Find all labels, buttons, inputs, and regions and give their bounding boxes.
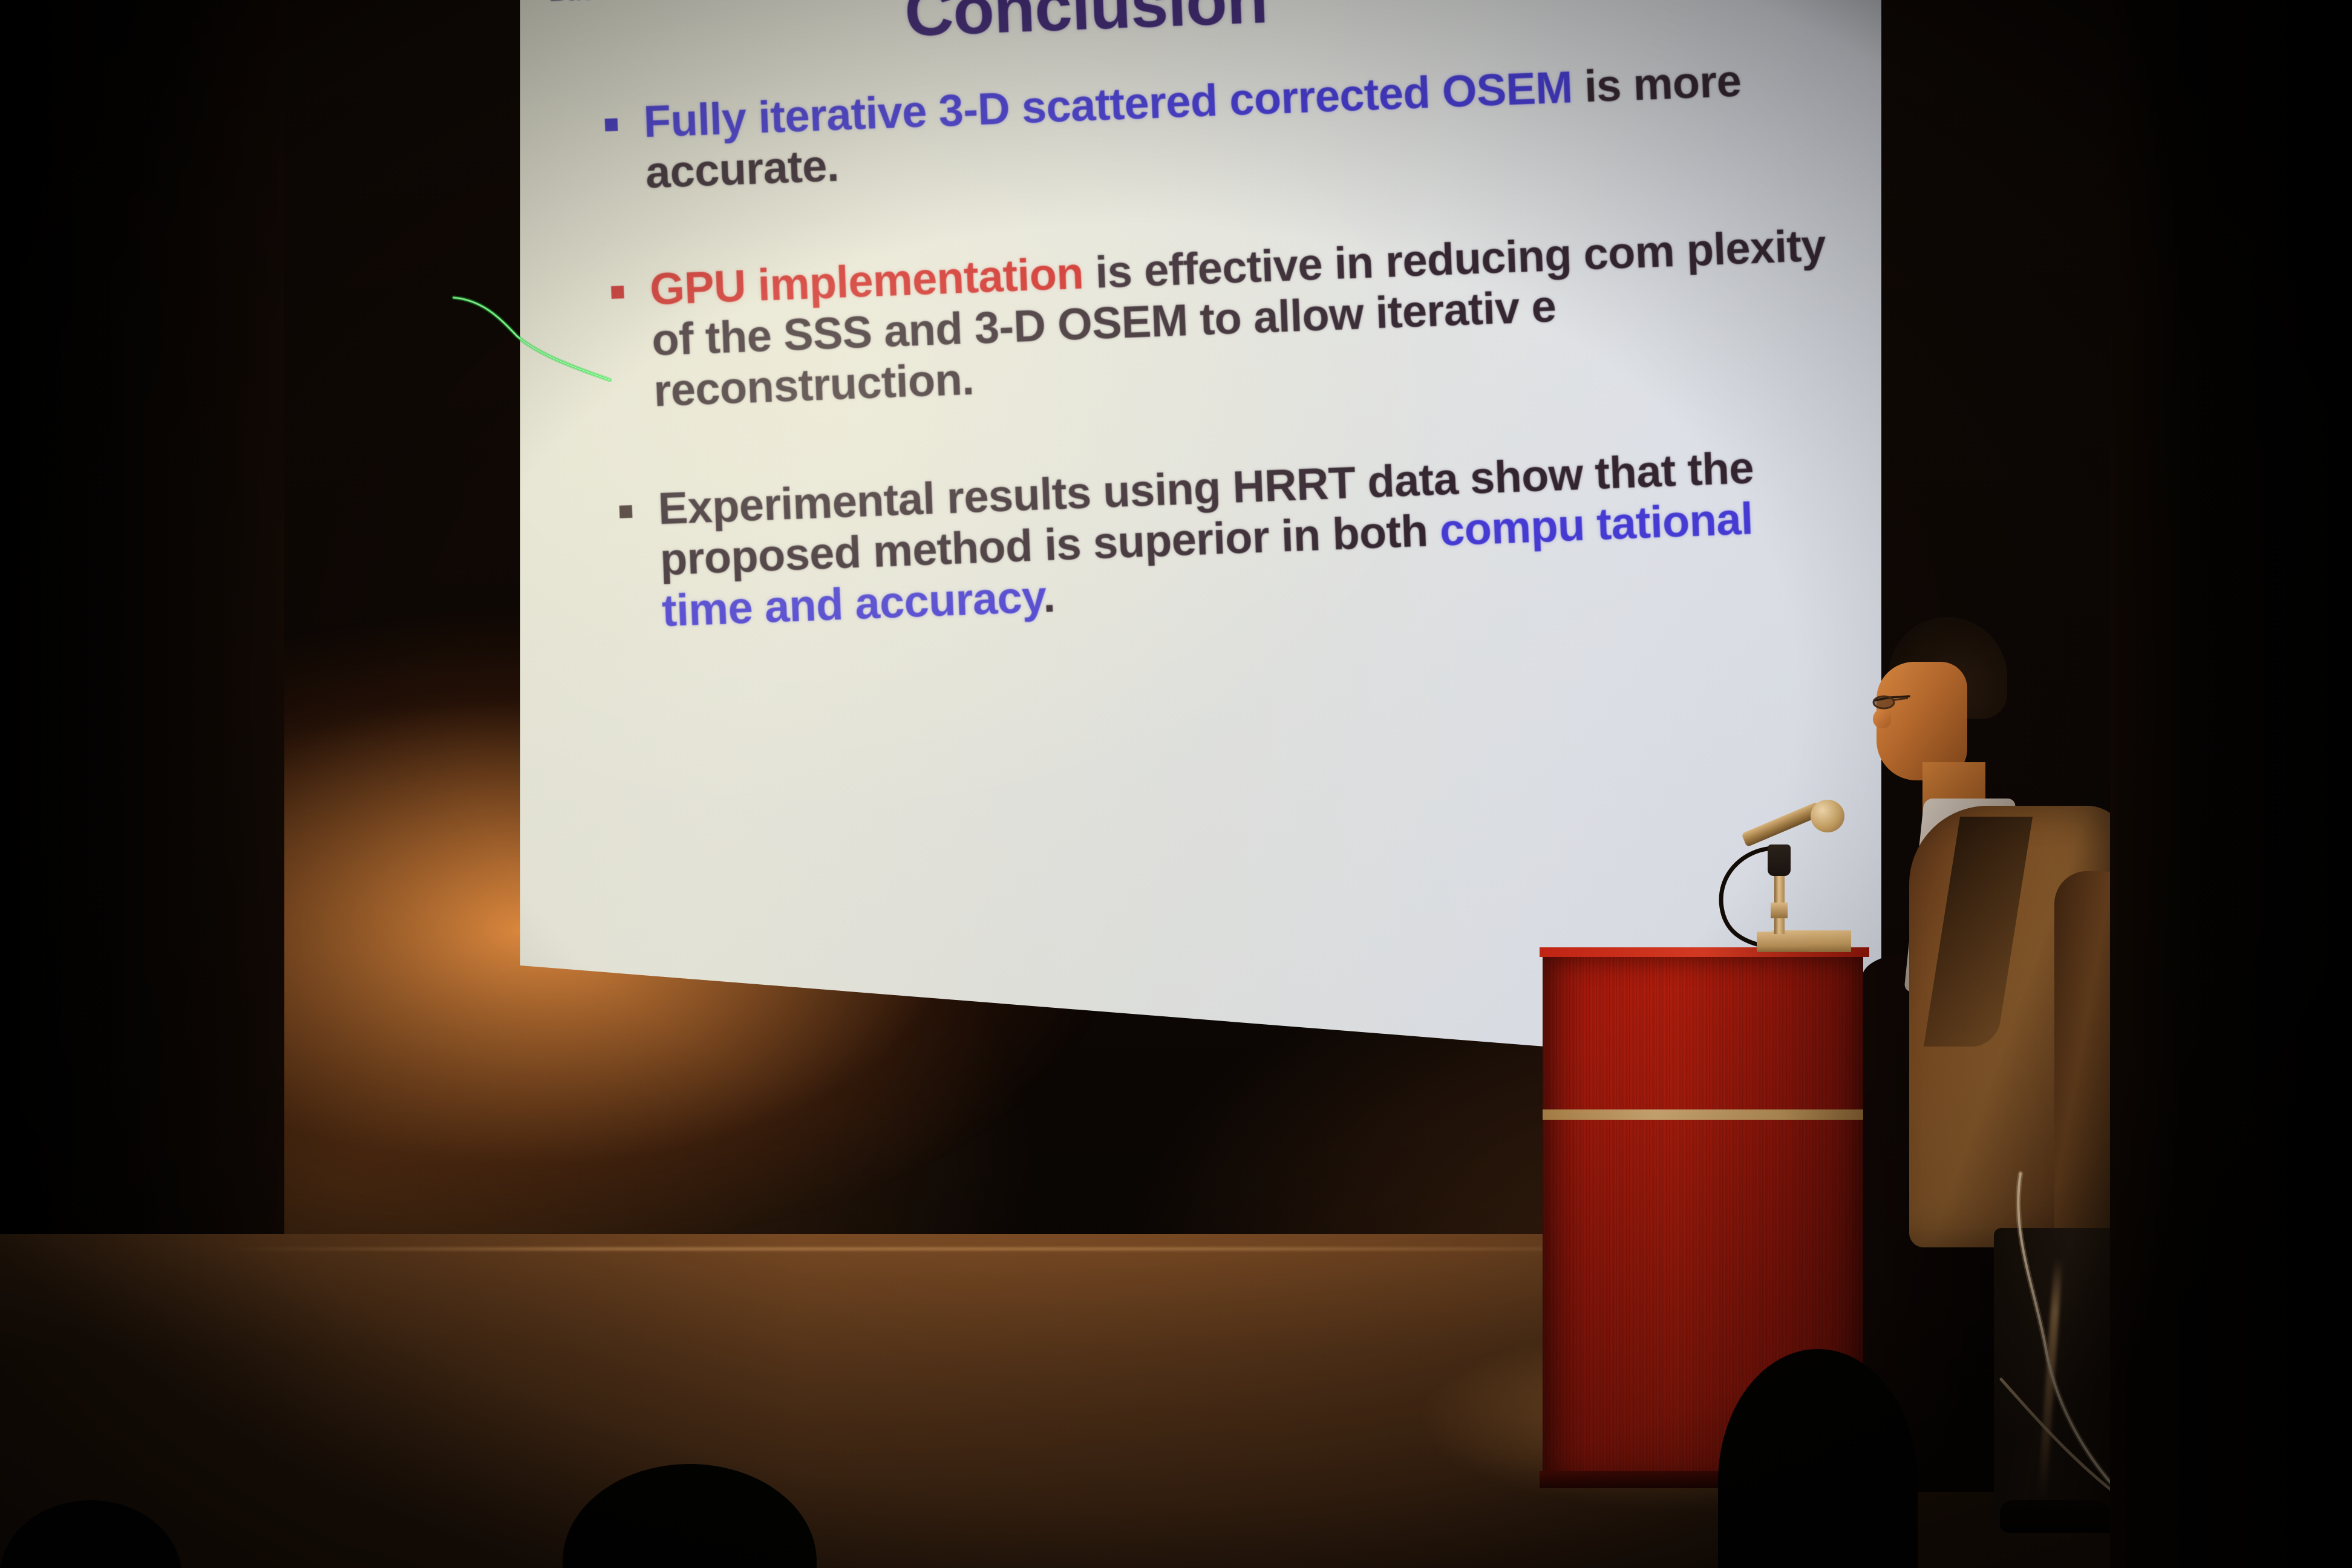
slide-bullet-2: GPU implementation is effective in reduc… bbox=[606, 220, 1838, 419]
glasses-icon bbox=[1872, 692, 1944, 713]
presenter-shoe bbox=[2000, 1500, 2115, 1533]
bullet-2-segment-2: is effective in reducing com plexity of … bbox=[651, 220, 1827, 416]
bullet-marker-icon bbox=[605, 118, 618, 131]
slide-content: Bac Conclusion Fully iterative 3-D scatt… bbox=[517, 0, 1912, 944]
lectern-gold-band bbox=[1543, 1109, 1863, 1120]
bullet-3-segment-3: . bbox=[1042, 570, 1056, 621]
microphone-clip bbox=[1768, 844, 1791, 876]
slide-title: Conclusion bbox=[903, 0, 1269, 51]
stage-floor-edge-highlight bbox=[218, 1247, 1718, 1250]
slide-bullet-list: Fully iterative 3-D scattered corrected … bbox=[599, 52, 1848, 688]
stage-curtain-left bbox=[0, 0, 284, 1276]
microphone-collar bbox=[1771, 903, 1788, 918]
bullet-marker-icon bbox=[611, 286, 624, 299]
slide-bullet-3: Experimental results using HRRT data sho… bbox=[613, 439, 1846, 638]
slide-top-crumb: Bac bbox=[549, 0, 596, 7]
microphone-head-icon bbox=[1811, 800, 1844, 832]
projection-screen: Bac Conclusion Fully iterative 3-D scatt… bbox=[520, 0, 1881, 1073]
presenter bbox=[1851, 617, 2141, 1524]
bullet-marker-icon bbox=[619, 505, 633, 518]
microphone-base bbox=[1757, 932, 1809, 952]
stage-curtain-right bbox=[2110, 0, 2352, 1568]
eyeglasses-icon bbox=[1872, 692, 1944, 713]
bullet-1-segment-1: Fully iterative 3-D scattered corrected … bbox=[642, 61, 1585, 146]
presentation-photo: Bac Conclusion Fully iterative 3-D scatt… bbox=[0, 0, 2352, 1568]
slide-bullet-1: Fully iterative 3-D scattered corrected … bbox=[599, 52, 1830, 200]
